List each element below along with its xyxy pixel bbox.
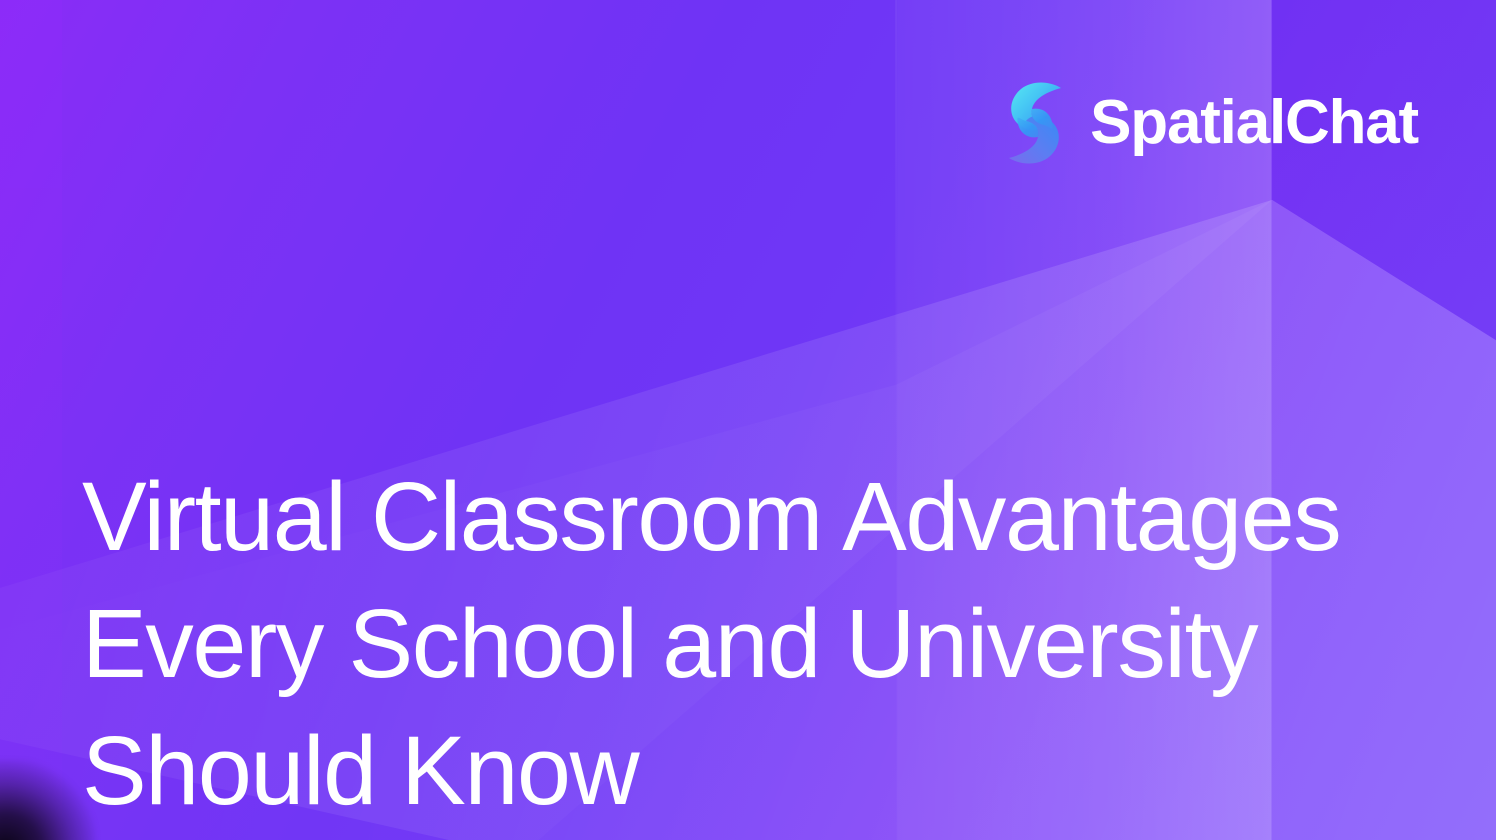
brand-name-text: SpatialChat xyxy=(1090,92,1418,154)
spatialchat-s-swoosh-icon xyxy=(1004,79,1066,167)
page-title: Virtual Classroom Advantages Every Schoo… xyxy=(82,453,1412,834)
blog-hero-banner: SpatialChat Virtual Classroom Advantages… xyxy=(0,0,1496,840)
background-left-edge-column xyxy=(0,0,62,840)
brand-lockup[interactable]: SpatialChat xyxy=(1004,79,1418,167)
